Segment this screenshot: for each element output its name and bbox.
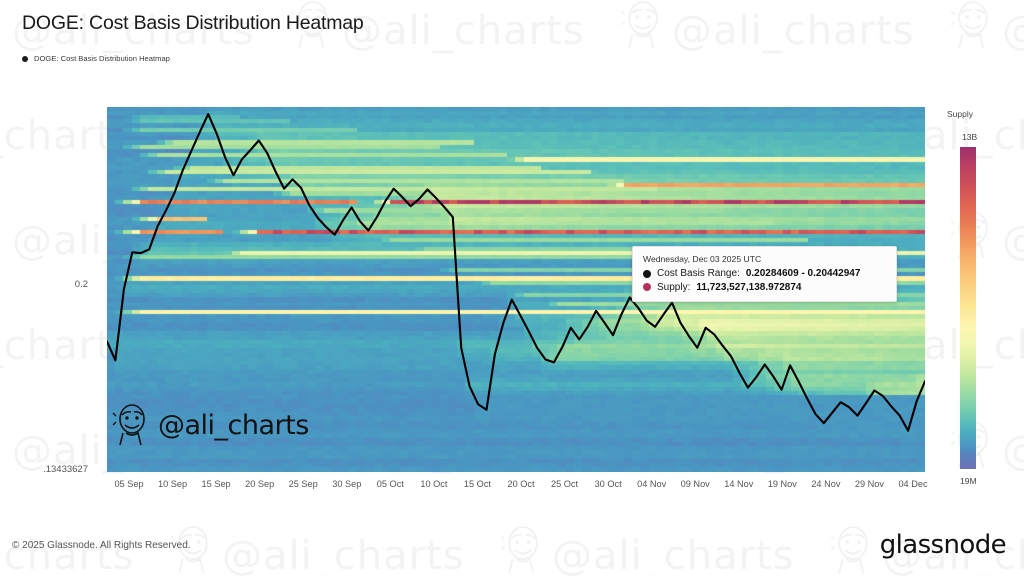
tooltip-supply-dot-icon <box>643 283 651 291</box>
legend-dot-icon <box>22 56 28 62</box>
hover-tooltip: Wednesday, Dec 03 2025 UTC Cost Basis Ra… <box>632 246 897 302</box>
watermark-text: @ali_charts <box>1002 218 1024 264</box>
chart-page: @ali_charts @ali_charts @ali_charts @ali… <box>0 0 1024 576</box>
x-axis-tick-label: 24 Nov <box>811 479 840 489</box>
x-axis-tick-label: 25 Sep <box>289 479 318 489</box>
watermark-face-icon <box>500 523 546 576</box>
y-axis-tick-label-bottom: .13433627 <box>18 464 88 475</box>
watermark-face-icon <box>950 0 996 57</box>
x-axis-tick-label: 30 Oct <box>595 479 622 489</box>
watermark-face-icon <box>0 418 6 477</box>
tooltip-cost-basis-dot-icon <box>643 270 651 278</box>
x-axis-tick-label: 15 Sep <box>202 479 231 489</box>
legend-item-label: DOGE: Cost Basis Distribution Heatmap <box>34 54 170 63</box>
x-axis-tick-label: 10 Sep <box>158 479 187 489</box>
watermark-face-icon <box>830 523 876 576</box>
colorbar-min-label: 19M <box>960 476 977 486</box>
tooltip-date: Wednesday, Dec 03 2025 UTC <box>643 254 886 264</box>
x-axis-tick-label: 05 Sep <box>114 479 143 489</box>
tooltip-row-supply: Supply: 11,723,527,138.972874 <box>643 282 886 293</box>
glassnode-logo: glassnode <box>880 530 1006 560</box>
chart-legend[interactable]: DOGE: Cost Basis Distribution Heatmap <box>22 54 170 63</box>
x-axis-tick-label: 29 Nov <box>855 479 884 489</box>
x-axis-tick-label: 30 Sep <box>332 479 361 489</box>
tooltip-cost-basis-label: Cost Basis Range: <box>657 268 740 279</box>
x-axis-tick-label: 04 Nov <box>637 479 666 489</box>
watermark-text: @ali_charts <box>1002 428 1024 474</box>
x-axis-tick-label: 09 Nov <box>681 479 710 489</box>
tooltip-row-cost-basis: Cost Basis Range: 0.20284609 - 0.2044294… <box>643 268 886 279</box>
watermark-face-icon <box>0 0 6 57</box>
x-axis-tick-label: 05 Oct <box>377 479 404 489</box>
watermark-text: @ali_charts <box>1002 8 1024 54</box>
watermark-text: @ali_charts <box>342 8 585 54</box>
y-axis-tick-label-top: 0.2 <box>18 279 88 290</box>
x-axis-tick-label: 04 Dec <box>898 479 927 489</box>
colorbar-max-label: 13B <box>962 132 977 142</box>
x-axis-tick-label: 20 Sep <box>245 479 274 489</box>
watermark-text: @ali_charts <box>672 8 915 54</box>
x-axis-tick-label: 15 Oct <box>464 479 491 489</box>
tooltip-supply-value: 11,723,527,138.972874 <box>696 282 801 293</box>
tooltip-supply-label: Supply: <box>657 282 690 293</box>
watermark-face-icon <box>620 0 666 57</box>
x-axis-tick-label: 14 Nov <box>724 479 753 489</box>
footer-copyright: © 2025 Glassnode. All Rights Reserved. <box>12 540 191 551</box>
ali-face-icon <box>112 402 152 448</box>
ali-charts-watermark: @ali_charts <box>112 402 309 448</box>
tooltip-cost-basis-value: 0.20284609 - 0.20442947 <box>746 268 861 279</box>
ali-charts-handle: @ali_charts <box>158 410 309 441</box>
watermark-text: @ali_charts <box>552 533 795 576</box>
x-axis: 05 Sep10 Sep15 Sep20 Sep25 Sep30 Sep05 O… <box>107 479 925 495</box>
x-axis-tick-label: 19 Nov <box>768 479 797 489</box>
colorbar-title: Supply <box>947 109 973 119</box>
x-axis-tick-label: 20 Oct <box>507 479 534 489</box>
watermark-text: @ali_charts <box>222 533 465 576</box>
watermark-face-icon <box>0 208 6 267</box>
page-title: DOGE: Cost Basis Distribution Heatmap <box>22 12 364 35</box>
x-axis-tick-label: 10 Oct <box>420 479 447 489</box>
x-axis-tick-label: 25 Oct <box>551 479 578 489</box>
colorbar-gradient <box>960 147 976 469</box>
